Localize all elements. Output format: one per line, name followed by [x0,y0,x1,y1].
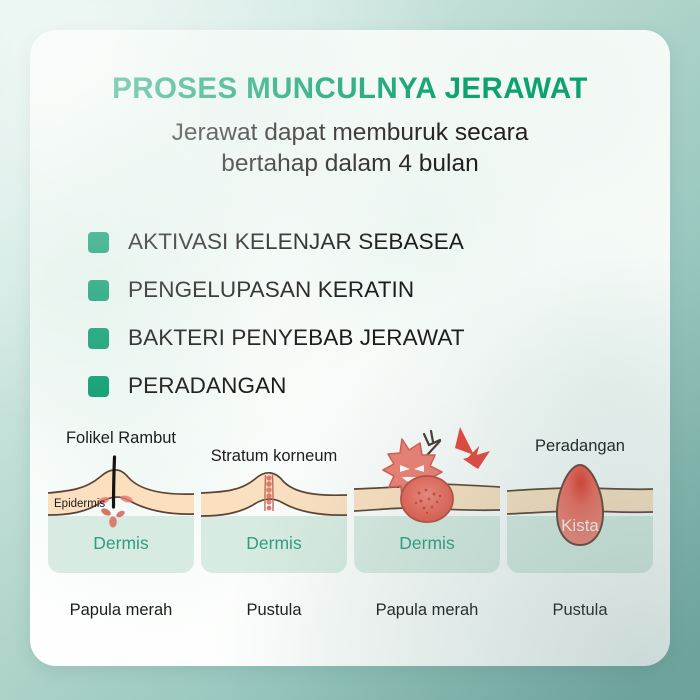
panel-caption: Papula merah [354,601,500,620]
cyst-icon: Kista [557,465,603,545]
list-item: BAKTERI PENYEBAB JERAWAT [88,314,628,362]
list-item: PENGELUPASAN KERATIN [88,266,628,314]
diagram-panel-4: Kista Peradangan Pustula [507,415,653,630]
panel-caption: Pustula [507,601,653,620]
list-item-label: BAKTERI PENYEBAB JERAWAT [128,325,465,351]
hair-follicle-icon [114,457,115,507]
list-item: PERADANGAN [88,362,628,410]
subtitle-line-1: Jerawat dapat memburuk secara [30,118,670,149]
panel-top-label: Folikel Rambut [48,429,194,448]
impact-lines-icon [455,427,490,469]
green-square-bullet-icon [88,376,109,397]
subtitle-line-2: bertahap dalam 4 bulan [30,149,670,180]
panel-caption: Pustula [201,601,347,620]
dermis-label: Dermis [93,533,149,553]
epidermis-label: Epidermis [54,498,105,510]
page-backdrop: PROSES MUNCULNYA JERAWAT Jerawat dapat m… [0,0,700,700]
page-title: PROSES MUNCULNYA JERAWAT [30,72,670,106]
list-item-label: AKTIVASI KELENJAR SEBASEA [128,229,464,255]
diagram-panel-1: Epidermis Dermis Folikel Rambut Papula m… [48,415,194,630]
list-item-label: PENGELUPASAN KERATIN [128,277,414,303]
green-square-bullet-icon [88,280,109,301]
dermis-label: Dermis [399,533,455,553]
dermis-label: Dermis [246,533,302,553]
diagram-panel-3: Dermis Papula merah [354,415,500,630]
diagram-panel-2: Dermis Stratum korneum Pustula [201,415,347,630]
inflamed-lesion-icon [401,476,453,522]
infographic-card: PROSES MUNCULNYA JERAWAT Jerawat dapat m… [30,30,670,666]
list-item: AKTIVASI KELENJAR SEBASEA [88,218,628,266]
list-item-label: PERADANGAN [128,373,287,399]
page-subtitle: Jerawat dapat memburuk secara bertahap d… [30,118,670,180]
green-square-bullet-icon [88,232,109,253]
green-square-bullet-icon [88,328,109,349]
cyst-label: Kista [561,516,599,535]
skin-stage-diagram: Epidermis Dermis Folikel Rambut Papula m… [48,415,652,630]
panel-top-label: Stratum korneum [191,447,357,466]
panel-top-label: Peradangan [497,437,663,456]
panel-caption: Papula merah [48,601,194,620]
process-list: AKTIVASI KELENJAR SEBASEA PENGELUPASAN K… [88,218,628,410]
